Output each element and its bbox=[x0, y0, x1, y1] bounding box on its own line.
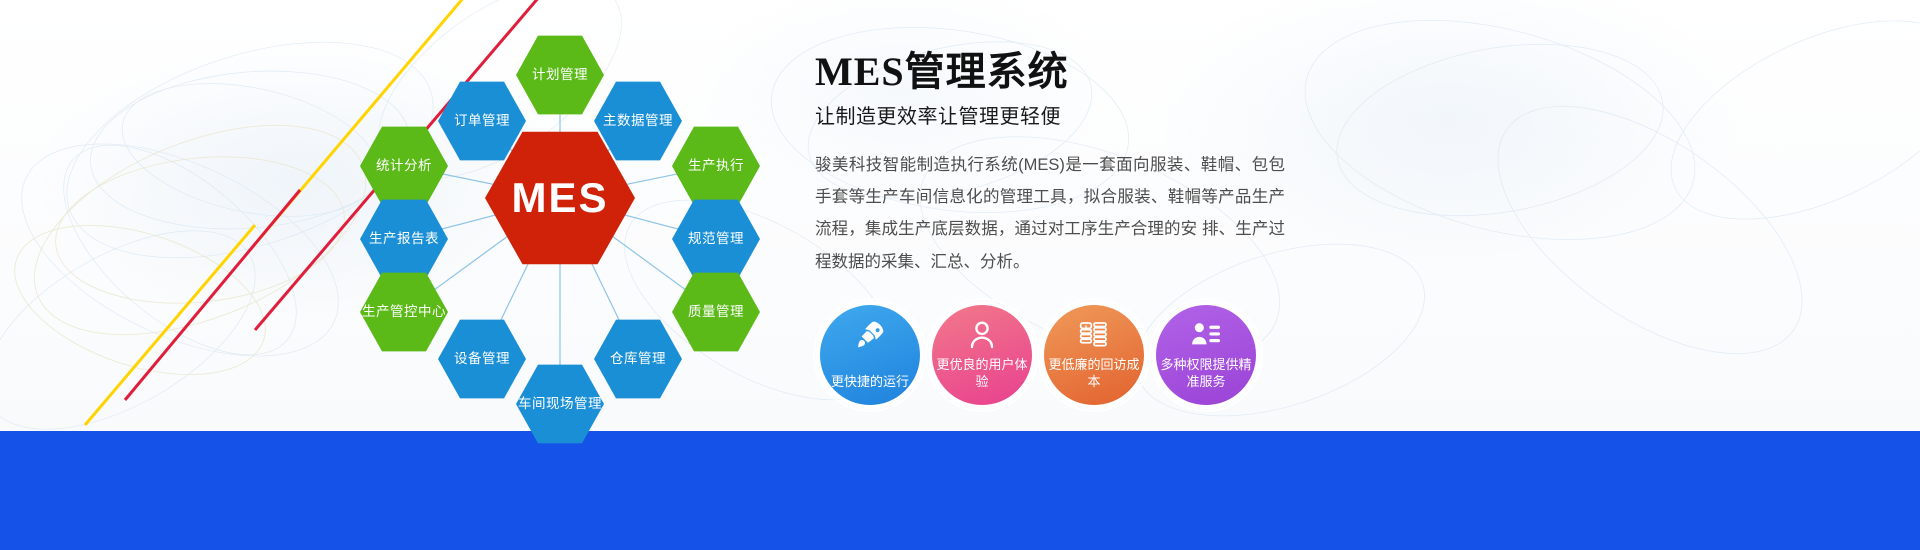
hex-label: 仓库管理 bbox=[610, 351, 666, 367]
bottom-blue-band bbox=[0, 432, 1920, 550]
svg-text:¥: ¥ bbox=[1085, 324, 1088, 330]
hex-label: 质量管理 bbox=[688, 304, 744, 320]
hex-label: 订单管理 bbox=[454, 113, 510, 129]
user-list-icon bbox=[1189, 318, 1223, 352]
hex-label: 生产报告表 bbox=[369, 231, 439, 247]
badge-lower-revisit-cost[interactable]: ¥ 更低廉的回访成本 bbox=[1044, 305, 1144, 405]
hex-label: 规范管理 bbox=[688, 231, 744, 247]
coins-yen-icon: ¥ bbox=[1077, 318, 1111, 352]
banner-text-column: MES管理系统 让制造更效率让管理更轻便 骏美科技智能制造执行系统(MES)是一… bbox=[815, 50, 1285, 278]
badge-label: 更低廉的回访成本 bbox=[1046, 356, 1142, 391]
badge-multi-permission-service[interactable]: 多种权限提供精准服务 bbox=[1156, 305, 1256, 405]
hex-label: 主数据管理 bbox=[603, 113, 673, 129]
badge-label: 更快捷的运行 bbox=[822, 373, 918, 391]
hex-label: 车间现场管理 bbox=[518, 396, 602, 412]
hex-label: 生产管控中心 bbox=[362, 304, 446, 320]
mes-banner: MES 计划管理 订单管理 主数据管理 统计分析 生产执行 生产报告表 规范管理… bbox=[0, 0, 1920, 550]
user-icon bbox=[965, 318, 999, 352]
page-title: MES管理系统 bbox=[815, 50, 1285, 94]
feature-badge-row: 更快捷的运行 更优良的用户体验 ¥ bbox=[820, 305, 1256, 405]
badge-better-user-experience[interactable]: 更优良的用户体验 bbox=[932, 305, 1032, 405]
hex-label: 生产执行 bbox=[688, 158, 744, 174]
hex-label: 计划管理 bbox=[532, 67, 588, 83]
description-paragraph: 骏美科技智能制造执行系统(MES)是一套面向服装、鞋帽、包包手套等生产车间信息化… bbox=[815, 149, 1285, 278]
hex-label: 设备管理 bbox=[454, 351, 510, 367]
badge-label: 更优良的用户体验 bbox=[934, 356, 1030, 391]
badge-label: 多种权限提供精准服务 bbox=[1158, 356, 1254, 391]
mes-hexagon-diagram: MES 计划管理 订单管理 主数据管理 统计分析 生产执行 生产报告表 规范管理… bbox=[330, 18, 790, 438]
badge-faster-operation[interactable]: 更快捷的运行 bbox=[820, 305, 920, 405]
page-subtitle: 让制造更效率让管理更轻便 bbox=[815, 100, 1285, 129]
hex-core-label: MES bbox=[511, 174, 608, 222]
rocket-icon bbox=[853, 318, 887, 352]
hex-label: 统计分析 bbox=[376, 158, 432, 174]
